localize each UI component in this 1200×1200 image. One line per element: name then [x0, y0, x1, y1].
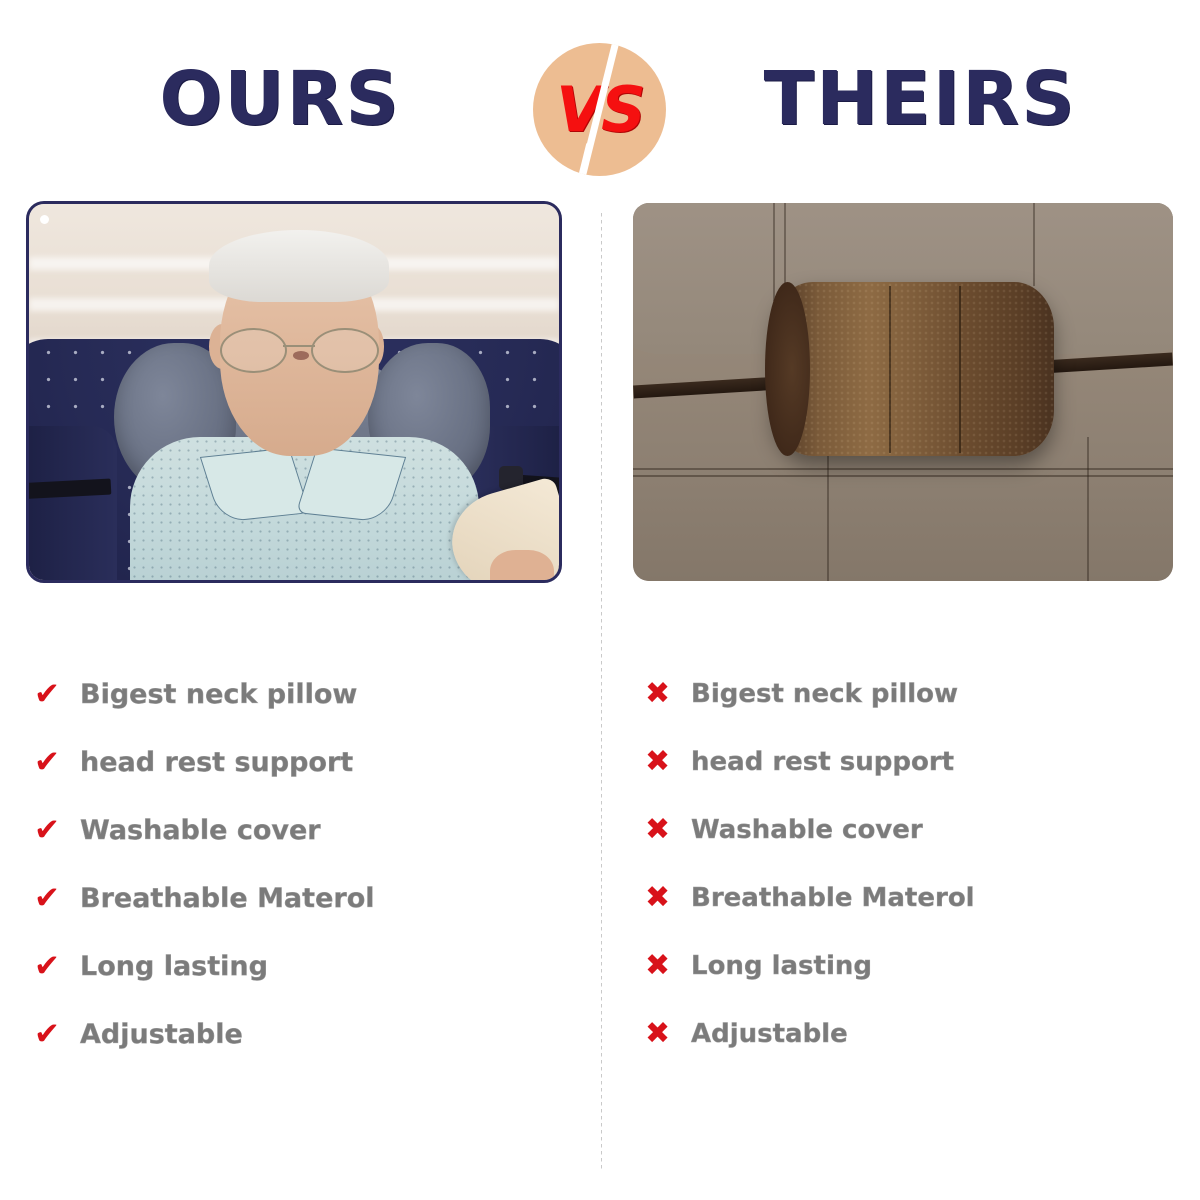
eyeglass-bridge	[283, 345, 315, 347]
list-item: ✖ head rest support	[645, 728, 1185, 796]
header: OURS VS THEIRS	[0, 0, 1200, 195]
page-title-theirs: THEIRS	[640, 62, 1200, 136]
ours-feature-list: ✔ Bigest neck pillow ✔ head rest support…	[34, 660, 574, 1068]
leather-seam-vertical	[827, 437, 829, 581]
list-item: ✖ Adjustable	[645, 1000, 1185, 1068]
feature-label: head rest support	[80, 747, 353, 778]
check-icon: ✔	[34, 747, 80, 778]
ours-product-photo	[26, 201, 562, 583]
cross-icon: ✖	[645, 951, 691, 981]
person-hand	[490, 550, 554, 580]
feature-label: Breathable Materol	[691, 883, 975, 913]
feature-label: Adjustable	[80, 1019, 243, 1050]
person-hair	[209, 230, 389, 301]
list-item: ✖ Breathable Materol	[645, 864, 1185, 932]
list-item: ✔ Bigest neck pillow	[34, 660, 574, 728]
frame-corner-dot-icon	[40, 215, 49, 224]
chair-wing-left	[29, 426, 117, 580]
cross-icon: ✖	[645, 883, 691, 913]
pillow-end-cap	[765, 282, 810, 456]
list-item: ✔ Washable cover	[34, 796, 574, 864]
feature-label: Washable cover	[691, 815, 923, 845]
theirs-feature-list: ✖ Bigest neck pillow ✖ head rest support…	[645, 660, 1185, 1068]
bolster-neck-pillow	[773, 282, 1054, 456]
pillow-seam	[959, 286, 961, 453]
pillow-seam	[889, 286, 891, 453]
check-icon: ✔	[34, 1019, 80, 1050]
list-item: ✔ Breathable Materol	[34, 864, 574, 932]
page-title-ours: OURS	[0, 62, 560, 136]
feature-label: Breathable Materol	[80, 883, 375, 914]
leather-seam	[633, 475, 1173, 477]
list-item: ✖ Washable cover	[645, 796, 1185, 864]
feature-label: head rest support	[691, 747, 954, 777]
feature-label: Bigest neck pillow	[691, 679, 958, 709]
leather-seam-vertical	[1087, 437, 1089, 581]
check-icon: ✔	[34, 815, 80, 846]
feature-label: Washable cover	[80, 815, 321, 846]
eyeglass-lens-left	[220, 328, 288, 373]
comparison-infographic: OURS VS THEIRS	[0, 0, 1200, 1200]
list-item: ✔ Adjustable	[34, 1000, 574, 1068]
cross-icon: ✖	[645, 747, 691, 777]
theirs-photo-scene	[633, 203, 1173, 581]
leather-seam-vertical	[773, 203, 775, 301]
feature-label: Long lasting	[691, 951, 872, 981]
leather-seam	[633, 468, 1173, 470]
eyeglasses-icon	[220, 328, 379, 369]
check-icon: ✔	[34, 679, 80, 710]
theirs-product-photo	[633, 203, 1173, 581]
cross-icon: ✖	[645, 679, 691, 709]
ours-photo-scene	[29, 204, 559, 580]
leather-seam-vertical	[1033, 203, 1035, 286]
feature-label: Long lasting	[80, 951, 268, 982]
cross-icon: ✖	[645, 815, 691, 845]
list-item: ✔ Long lasting	[34, 932, 574, 1000]
cross-icon: ✖	[645, 1019, 691, 1049]
feature-label: Bigest neck pillow	[80, 679, 357, 710]
pillow-fabric-texture	[773, 282, 1054, 456]
column-divider	[601, 213, 602, 1170]
check-icon: ✔	[34, 883, 80, 914]
eyeglass-lens-right	[311, 328, 379, 373]
list-item: ✖ Bigest neck pillow	[645, 660, 1185, 728]
check-icon: ✔	[34, 951, 80, 982]
list-item: ✔ head rest support	[34, 728, 574, 796]
feature-label: Adjustable	[691, 1019, 848, 1049]
list-item: ✖ Long lasting	[645, 932, 1185, 1000]
